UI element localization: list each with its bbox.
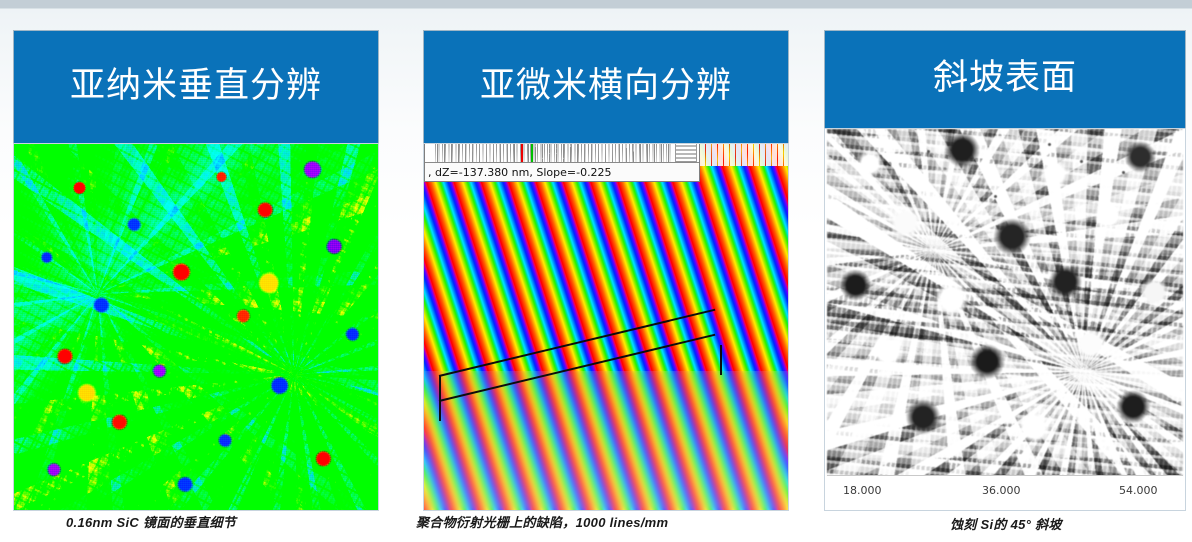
panel-2-title: 亚微米横向分辨 bbox=[424, 31, 788, 144]
panel-3-figure: 18.000 36.000 54.000 bbox=[825, 129, 1185, 510]
profile-readout-text: , dZ=-137.380 nm, Slope=-0.225 bbox=[425, 162, 699, 181]
panel-1-title: 亚纳米垂直分辨 bbox=[14, 31, 378, 144]
sem-topography-image bbox=[827, 129, 1183, 476]
profile-cursor-red[interactable] bbox=[521, 144, 523, 162]
panel-1-figure bbox=[14, 144, 378, 510]
sem-axis-tick-right: 54.000 bbox=[1119, 484, 1158, 497]
profile-scrollbar[interactable] bbox=[675, 144, 697, 162]
slide-canvas: 亚纳米垂直分辨 0.16nm SiC 镜面的垂直细节 亚微米横向分辨 bbox=[0, 0, 1192, 542]
sem-axis-strip: 18.000 36.000 54.000 bbox=[827, 475, 1183, 510]
sem-axis-tick-left: 18.000 bbox=[843, 484, 882, 497]
profile-trace-secondary bbox=[435, 144, 671, 162]
afm-grain-overlay bbox=[14, 144, 378, 510]
panel-sloped-surface: 斜坡表面 18.000 36.000 54.000 bbox=[825, 31, 1185, 510]
panel-sub-micron-lateral-resolution: 亚微米横向分辨 , dZ=-137.380 nm, Slope=-0.225 bbox=[424, 31, 788, 510]
profile-cursor-green[interactable] bbox=[531, 144, 533, 162]
panel-2-caption: 聚合物衍射光栅上的缺陷，1000 lines/mm bbox=[416, 512, 668, 531]
measurement-line-left-cap bbox=[439, 375, 441, 421]
sem-speck bbox=[1080, 160, 1083, 163]
panel-sub-nanometer-vertical-resolution: 亚纳米垂直分辨 bbox=[14, 31, 378, 510]
sem-speck bbox=[994, 195, 997, 198]
sem-axis-tick-middle: 36.000 bbox=[982, 484, 1021, 497]
line-profile-widget[interactable]: , dZ=-137.380 nm, Slope=-0.225 bbox=[424, 144, 700, 182]
line-profile-plot bbox=[435, 144, 671, 162]
sem-speck bbox=[1122, 171, 1125, 174]
panel-3-caption: 蚀刻 Si的 45° 斜坡 bbox=[950, 514, 1062, 533]
measurement-line-right-cap bbox=[720, 345, 722, 375]
sem-speck bbox=[927, 150, 930, 153]
panel-3-title: 斜坡表面 bbox=[825, 31, 1185, 129]
panel-1-caption: 0.16nm SiC 镜面的垂直细节 bbox=[66, 512, 236, 531]
panel-2-figure: , dZ=-137.380 nm, Slope=-0.225 bbox=[424, 144, 788, 510]
sem-speck bbox=[1048, 143, 1051, 146]
